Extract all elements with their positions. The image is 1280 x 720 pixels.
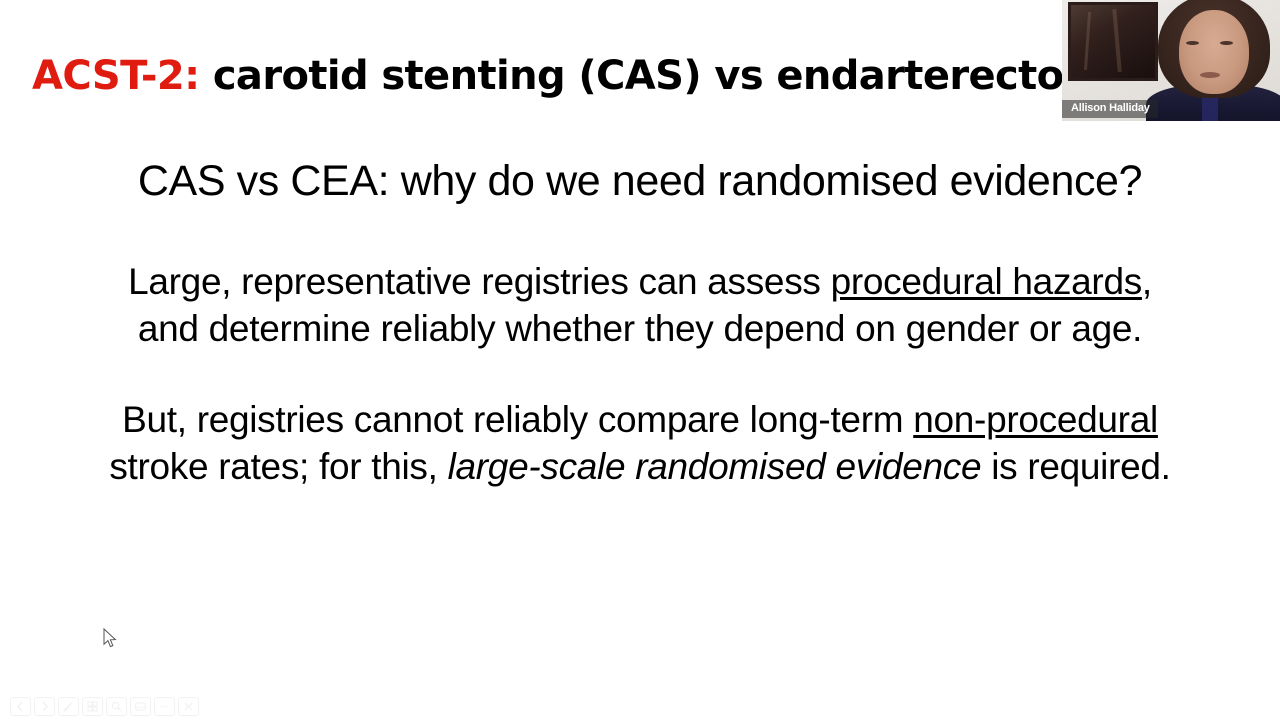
subtitles-icon[interactable] <box>130 697 151 716</box>
paragraph-line: and determine reliably whether they depe… <box>0 305 1280 352</box>
zoom-in-icon[interactable] <box>106 697 127 716</box>
slide-paragraph-2: But, registries cannot reliably compare … <box>0 396 1280 490</box>
next-slide-icon[interactable] <box>34 697 55 716</box>
text-run-plain: Large, representative registries can ass… <box>128 261 830 302</box>
text-run-underline: procedural hazards <box>831 261 1142 302</box>
speaker-eye-left <box>1186 41 1199 45</box>
previous-slide-icon[interactable] <box>10 697 31 716</box>
text-run-plain: and determine reliably whether they depe… <box>138 308 1142 349</box>
slide-paragraph-1: Large, representative registries can ass… <box>0 258 1280 352</box>
mouse-cursor <box>103 628 119 650</box>
slide-subtitle: CAS vs CEA: why do we need randomised ev… <box>0 152 1280 210</box>
speaker-eye-right <box>1220 41 1233 45</box>
text-run-plain: is required. <box>981 446 1170 487</box>
slide-title-highlight: ACST-2: <box>32 53 200 99</box>
text-run-italic: large-scale randomised evidence <box>448 446 982 487</box>
paragraph-line: But, registries cannot reliably compare … <box>0 396 1280 443</box>
text-run-plain: stroke rates; for this, <box>109 446 447 487</box>
slide-thumbnails-icon[interactable] <box>82 697 103 716</box>
speaker-face <box>1179 10 1249 94</box>
presentation-toolbar[interactable] <box>10 697 199 716</box>
wall-artwork <box>1068 2 1158 81</box>
participant-name-label: Allison Halliday <box>1062 100 1158 118</box>
end-show-icon[interactable] <box>178 697 199 716</box>
webcam-overlay[interactable]: Allison Halliday <box>1062 0 1280 121</box>
slide-title-rest: carotid stenting (CAS) vs endarterectomy <box>200 53 1131 99</box>
presentation-slide: ACST-2: carotid stenting (CAS) vs endart… <box>0 0 1280 720</box>
pen-icon[interactable] <box>58 697 79 716</box>
paragraph-line: stroke rates; for this, large-scale rand… <box>0 443 1280 490</box>
text-run-plain: But, registries cannot reliably compare … <box>122 399 913 440</box>
speaker-mouth <box>1200 72 1220 78</box>
text-run-underline: non-procedural <box>913 399 1158 440</box>
text-run-plain: , <box>1142 261 1152 302</box>
paragraph-line: Large, representative registries can ass… <box>0 258 1280 305</box>
more-options-icon[interactable] <box>154 697 175 716</box>
